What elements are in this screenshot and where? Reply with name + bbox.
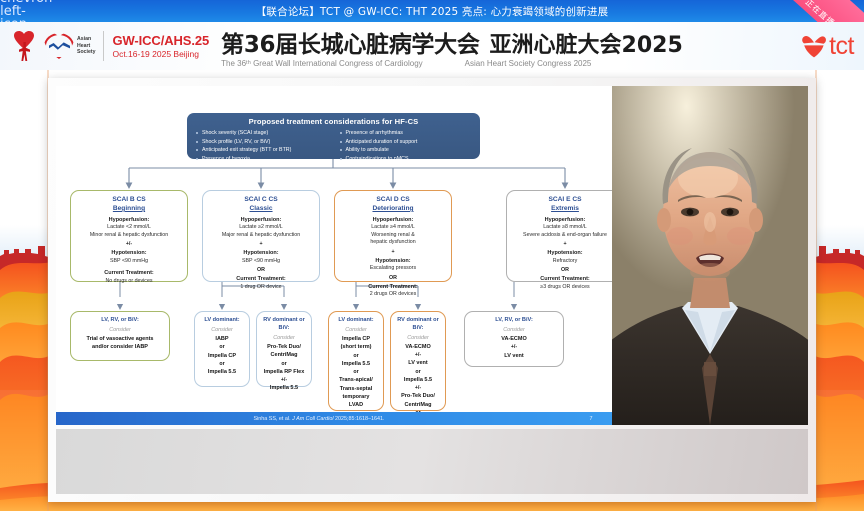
stage-criteria: Hypoperfusion: Lactate ≥4 mmol/L Worseni…: [339, 216, 447, 299]
criteria-label: Hypoperfusion:: [75, 216, 183, 224]
treatment-item: Pro-Tek Duo/: [260, 343, 308, 351]
treatment-connector: or: [332, 368, 380, 376]
stage-subtitle: Beginning: [75, 205, 183, 214]
treatment-box-d-rv: RV dominant or BiV: Consider VA-ECMO +/-…: [390, 311, 446, 411]
treatment-item: CentriMag: [260, 351, 308, 359]
treatment-item: Impella 5.5: [260, 384, 308, 392]
tct-heart-icon: [801, 34, 827, 58]
treatment-item: LVAD: [332, 401, 380, 409]
stage-subtitle: Deteriorating: [339, 205, 447, 214]
stage-box-scai-e: SCAI E CS Extremis Hypoperfusion: Lactat…: [506, 190, 624, 282]
stage-criteria: Hypoperfusion: Lactate ≥2 mmol/L Major r…: [207, 216, 315, 292]
criteria-operator: OR: [207, 265, 315, 275]
treatment-box-d-lv: LV dominant: Consider Impella CP (short …: [328, 311, 384, 411]
treatment-item: Trial of vasoactive agents: [74, 335, 166, 343]
tct-logo-text: tct: [829, 34, 854, 59]
ahs-line-2: Heart: [77, 43, 95, 50]
treatment-connector: +/-: [260, 376, 308, 384]
criteria-value: Lactate ≥8 mmol/L: [511, 224, 619, 232]
treatment-item: temporary: [332, 393, 380, 401]
treatment-item: Trans-apical/: [332, 376, 380, 384]
treatment-item: Impella 5.5: [198, 368, 246, 376]
criteria-label: Hypoperfusion:: [511, 216, 619, 224]
list-item: Anticipated duration of support: [339, 138, 473, 147]
treatment-consider-label: Consider: [394, 333, 442, 343]
criteria-value: SBP <90 mmHg: [207, 258, 315, 266]
stage-name: SCAI C CS: [207, 196, 315, 205]
criteria-value: Refractory: [511, 258, 619, 266]
treatment-consider-label: Consider: [468, 325, 560, 335]
treatment-item: IABP: [198, 335, 246, 343]
criteria-value: Escalating pressors: [339, 265, 447, 273]
presentation-stage: Proposed treatment considerations for HF…: [48, 78, 816, 502]
list-item: Presence of hypoxia: [195, 155, 329, 164]
treatment-box-e: LV, RV, or BiV: Consider VA-ECMO +/- LV …: [464, 311, 564, 367]
stage-lower-panel: [56, 429, 808, 494]
criteria-label: Current Treatment:: [207, 275, 315, 283]
criteria-value: Severe acidosis & end-organ failure: [511, 232, 619, 240]
treatment-heading: RV dominant or BiV:: [260, 317, 308, 333]
treatment-item: VA-ECMO: [468, 335, 560, 343]
criteria-value: No drugs or devices: [75, 278, 183, 286]
stage-subtitle: Classic: [207, 205, 315, 214]
criteria-label: Hypoperfusion:: [339, 216, 447, 224]
treatment-algorithm-diagram: Proposed treatment considerations for HF…: [56, 86, 612, 425]
diagram-header-box: Proposed treatment considerations for HF…: [187, 113, 480, 159]
stream-title: 【联合论坛】TCT @ GW-ICC: THT 2025 亮点: 心力衰竭领域的…: [26, 4, 864, 19]
ahs-line-1: Asian: [77, 36, 95, 43]
treatment-connector: or: [260, 360, 308, 368]
citation-locator: 2025;85:1618–1641.: [334, 416, 385, 422]
chevron-left-icon[interactable]: chevron-left-icon: [0, 0, 26, 22]
criteria-value: 1 drug OR device: [207, 284, 315, 292]
citation-authors: Sinha SS, et al.: [253, 416, 292, 422]
gwicc-heart-logo-icon: [10, 29, 40, 63]
treatment-connector: +/-: [468, 343, 560, 351]
congress-titles: 第36届长城心脏病学大会 亚洲心脏大会2025 The 36ᵗʰ Great W…: [221, 25, 795, 68]
criteria-label: Hypotension:: [339, 257, 447, 265]
stage-box-scai-d: SCAI D CS Deteriorating Hypoperfusion: L…: [334, 190, 452, 282]
criteria-value: hepatic dysfunction: [339, 239, 447, 247]
stage-box-scai-b: SCAI B CS Beginning Hypoperfusion: Lacta…: [70, 190, 188, 282]
slide-page-number: 7: [576, 416, 606, 422]
treatment-box-b: LV, RV, or BiV: Consider Trial of vasoac…: [70, 311, 170, 361]
criteria-label: Hypotension:: [511, 249, 619, 257]
treatment-item: Trans-septal: [332, 385, 380, 393]
treatment-item: Impella CP: [198, 352, 246, 360]
criteria-label: Current Treatment:: [339, 283, 447, 291]
list-item: Shock profile (LV, RV, or BiV): [195, 138, 329, 147]
criteria-operator: OR: [511, 265, 619, 275]
stage-box-scai-c: SCAI C CS Classic Hypoperfusion: Lactate…: [202, 190, 320, 282]
treatment-item: LV vent: [468, 352, 560, 360]
stage-subtitle: Extremis: [511, 205, 619, 214]
criteria-operator: OR: [339, 273, 447, 283]
stage-name: SCAI E CS: [511, 196, 619, 205]
consideration-list-right: Presence of arrhythmias Anticipated dura…: [339, 129, 473, 163]
speaker-portrait: [612, 86, 808, 425]
stream-titlebar: chevron-left-icon 【联合论坛】TCT @ GW-ICC: TH…: [0, 0, 864, 22]
treatment-item: LV vent: [394, 359, 442, 367]
treatment-item: Pro-Tek Duo/: [394, 392, 442, 400]
treatment-connector: or: [332, 352, 380, 360]
criteria-operator: +: [207, 239, 315, 249]
treatment-connector: or: [198, 343, 246, 351]
list-item: Ability to ambulate: [339, 146, 473, 155]
congress-title-en: The 36ᵗʰ Great Wall International Congre…: [221, 59, 423, 68]
treatment-connector: or: [198, 360, 246, 368]
list-item: Shock severity (SCAI stage): [195, 129, 329, 138]
criteria-label: Hypotension:: [75, 249, 183, 257]
treatment-heading: RV dominant or BiV:: [394, 317, 442, 333]
criteria-operator: +: [339, 247, 447, 257]
criteria-value: Lactate ≥2 mmol/L: [207, 224, 315, 232]
congress-subtitle-en: Asian Heart Society Congress 2025: [465, 59, 592, 68]
treatment-consider-label: Consider: [74, 325, 166, 335]
stage-criteria: Hypoperfusion: Lactate <2 mmol/L Minor r…: [75, 216, 183, 286]
ahs-line-3: Society: [77, 49, 95, 56]
criteria-value: Lactate ≥4 mmol/L: [339, 224, 447, 232]
slide-canvas: Proposed treatment considerations for HF…: [56, 86, 808, 425]
treatment-connector: +/-: [394, 384, 442, 392]
treatment-item: Impella 5.5: [394, 376, 442, 384]
stage-name: SCAI D CS: [339, 196, 447, 205]
ahs-wave-icon: [49, 41, 70, 51]
treatment-consider-label: Consider: [332, 325, 380, 335]
criteria-value: Major renal & hepatic dysfunction: [207, 232, 315, 240]
event-code-block: GW-ICC/AHS.25 Oct.16-19 2025 Beijing: [112, 33, 209, 59]
header-divider: [103, 31, 104, 61]
event-dates: Oct.16-19 2025 Beijing: [112, 49, 209, 59]
treatment-item: Impella CP: [332, 335, 380, 343]
citation-text: Sinha SS, et al. J Am Coll Cardiol 2025;…: [62, 416, 576, 422]
conference-header: Asian Heart Society GW-ICC/AHS.25 Oct.16…: [0, 22, 864, 70]
treatment-item: VA-ECMO: [394, 343, 442, 351]
stage-criteria: Hypoperfusion: Lactate ≥8 mmol/L Severe …: [511, 216, 619, 292]
treatment-heading: LV dominant:: [332, 317, 380, 325]
diagram-title: Proposed treatment considerations for HF…: [195, 117, 472, 126]
list-item: Anticipated exit strategy (BTT or BTR): [195, 146, 329, 155]
treatment-consider-label: Consider: [198, 325, 246, 335]
congress-title-cn: 第36届长城心脏病学大会: [221, 25, 479, 59]
treatment-item: and/or consider IABP: [74, 343, 166, 351]
stage-name: SCAI B CS: [75, 196, 183, 205]
treatment-heading: LV, RV, or BiV:: [74, 317, 166, 325]
treatment-box-c-lv: LV dominant: Consider IABP or Impella CP…: [194, 311, 250, 387]
slide-citation-bar: Sinha SS, et al. J Am Coll Cardiol 2025;…: [56, 412, 612, 425]
treatment-box-c-rv: RV dominant or BiV: Consider Pro-Tek Duo…: [256, 311, 312, 387]
treatment-connector: +/-: [394, 351, 442, 359]
speaker-video-pane[interactable]: [612, 86, 808, 425]
criteria-operator: +/-: [75, 239, 183, 249]
event-code: GW-ICC/AHS.25: [112, 33, 209, 48]
criteria-value: Worsening renal &: [339, 232, 447, 240]
ahs-heart-icon: [44, 33, 74, 59]
treatment-item: CentriMag: [394, 401, 442, 409]
criteria-label: Hypotension:: [207, 249, 315, 257]
treatment-item: (short term): [332, 343, 380, 351]
asian-heart-society-logo: Asian Heart Society: [44, 33, 95, 59]
list-item: Contraindications to pMCS: [339, 155, 473, 164]
treatment-heading: LV dominant:: [198, 317, 246, 325]
criteria-value: 2 drugs OR devices: [339, 291, 447, 299]
consideration-list-left: Shock severity (SCAI stage) Shock profil…: [195, 129, 329, 163]
tct-logo: tct: [801, 34, 854, 59]
list-item: Presence of arrhythmias: [339, 129, 473, 138]
citation-journal: J Am Coll Cardiol: [292, 416, 333, 422]
criteria-label: Current Treatment:: [511, 275, 619, 283]
criteria-label: Current Treatment:: [75, 269, 183, 277]
criteria-value: Lactate <2 mmol/L: [75, 224, 183, 232]
treatment-heading: LV, RV, or BiV:: [468, 317, 560, 325]
criteria-value: SBP <90 mmHg: [75, 258, 183, 266]
ahs-logo-text: Asian Heart Society: [77, 36, 95, 57]
treatment-consider-label: Consider: [260, 333, 308, 343]
treatment-connector: or: [394, 368, 442, 376]
treatment-item: Impella 5.5: [332, 360, 380, 368]
criteria-value: Minor renal & hepatic dysfunction: [75, 232, 183, 240]
criteria-value: ≥3 drugs OR devices: [511, 284, 619, 292]
criteria-label: Hypoperfusion:: [207, 216, 315, 224]
congress-subtitle-cn: 亚洲心脏大会2025: [490, 27, 683, 59]
criteria-operator: +: [511, 239, 619, 249]
treatment-item: Impella RP Flex: [260, 368, 308, 376]
